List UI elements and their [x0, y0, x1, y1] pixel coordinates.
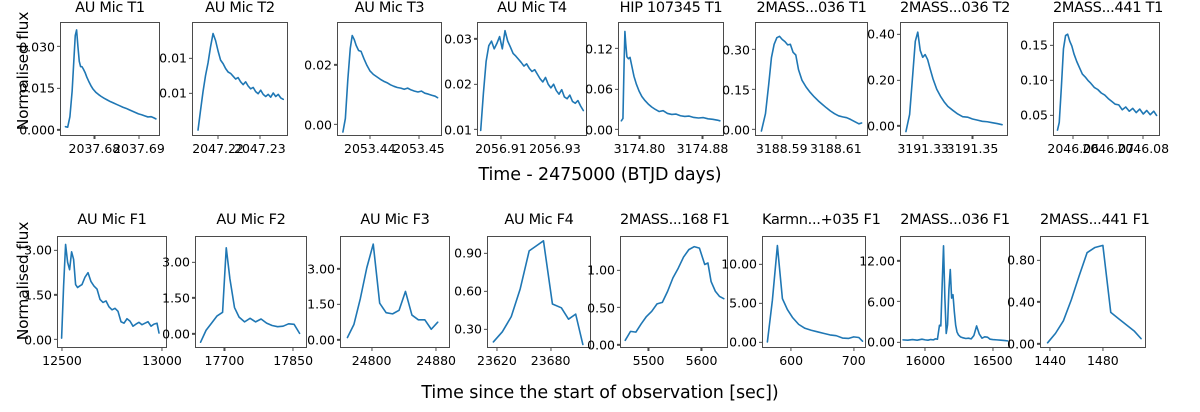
y-tick-label: 0.03 [444, 31, 478, 46]
light-curve-line [761, 36, 861, 131]
light-curve-line [906, 32, 1002, 131]
light-curve-plot [341, 237, 449, 347]
x-tick-label: 23680 [531, 347, 571, 368]
y-tick-label: 12.00 [859, 253, 901, 268]
x-tick-label: 23620 [477, 347, 517, 368]
plot-axes: 0.006.0012.001600016500 [900, 236, 1010, 348]
y-axis-label-top: Normalised flux [14, 1, 32, 141]
subplot-title: Karmn...+035 F1 [762, 212, 866, 228]
x-tick-label: 3191.33 [897, 135, 949, 156]
x-tick-label: 2037.69 [113, 135, 165, 156]
light-curve-line [903, 246, 1008, 341]
y-tick-label: 0.15 [1020, 38, 1054, 53]
subplot-title: 2MASS...036 T2 [900, 0, 1008, 16]
y-tick-label: 0.015 [19, 81, 61, 96]
x-tick-label: 2056.91 [475, 135, 527, 156]
light-curve-plot [488, 237, 590, 347]
light-curve-line [1057, 34, 1156, 130]
subplot-title: AU Mic T2 [192, 0, 288, 16]
y-tick-label: 0.10 [1020, 73, 1054, 88]
light-curve-plot [58, 237, 166, 347]
y-tick-label: 0.02 [444, 77, 478, 92]
light-curve-plot [901, 23, 1007, 135]
light-curve-plot [901, 237, 1009, 347]
y-tick-label: 0.30 [454, 322, 488, 337]
light-curve-line [767, 246, 862, 342]
x-tick-label: 1480 [1087, 347, 1119, 368]
subplot-title: 2MASS...441 F1 [1040, 212, 1146, 228]
plot-axes: 0.005.0010.00600700 [762, 236, 866, 348]
x-tick-label: 3174.88 [677, 135, 729, 156]
plot-axes: 0.000.200.403191.333191.35 [900, 22, 1008, 136]
plot-axes: 0.300.600.902362023680 [487, 236, 591, 348]
y-tick-label: 0.12 [585, 41, 619, 56]
plot-axes: 0.000.022053.442053.45 [337, 22, 442, 136]
x-tick-label: 600 [779, 347, 803, 368]
y-tick-label: 6.00 [867, 294, 901, 309]
x-axis-label-bottom: Time since the start of observation [sec… [0, 383, 1200, 403]
subplot-title: AU Mic T1 [60, 0, 160, 16]
bottom-panel-row: Normalised flux AU Mic F10.001.503.00125… [0, 212, 1200, 412]
light-curve-line [343, 36, 438, 132]
x-tick-label: 1440 [1034, 347, 1066, 368]
subplot-title: 2MASS...441 T1 [1053, 0, 1160, 16]
light-curve-line [198, 34, 283, 131]
light-curve-line [1048, 245, 1141, 342]
plot-axes: 0.000.400.8014401480 [1040, 236, 1146, 348]
y-tick-label: 0.00 [587, 337, 621, 352]
light-curve-figure: Normalised flux AU Mic T10.0000.0150.030… [0, 0, 1200, 412]
subplot-title: 2MASS...036 T1 [755, 0, 868, 16]
y-tick-label: 0.01 [159, 86, 193, 101]
plot-axes: 0.001.503.001770017850 [195, 236, 307, 348]
y-tick-label: 0.00 [162, 326, 196, 341]
y-axis-label-bottom: Normalised flux [14, 211, 32, 351]
x-tick-label: 24800 [352, 347, 392, 368]
x-tick-label: 13000 [142, 347, 182, 368]
y-tick-label: 0.40 [1007, 294, 1041, 309]
y-tick-label: 0.00 [722, 122, 756, 137]
x-tick-label: 3188.61 [810, 135, 862, 156]
x-axis-label-top: Time - 2475000 (BTJD days) [0, 165, 1200, 185]
x-tick-label: 24880 [416, 347, 456, 368]
light-curve-plot [61, 23, 159, 135]
plot-axes: 0.000.150.303188.593188.61 [755, 22, 868, 136]
x-tick-label: 16000 [905, 347, 945, 368]
y-tick-label: 0.30 [722, 42, 756, 57]
light-curve-plot [1041, 237, 1145, 347]
y-tick-label: 3.00 [24, 243, 58, 258]
light-curve-plot [478, 23, 586, 135]
y-tick-label: 0.01 [159, 51, 193, 66]
x-tick-label: 3191.35 [947, 135, 999, 156]
light-curve-plot [196, 237, 306, 347]
y-tick-label: 0.50 [587, 300, 621, 315]
light-curve-plot [621, 237, 727, 347]
light-curve-plot [619, 23, 723, 135]
plot-axes: 0.050.100.152046.062046.072046.08 [1053, 22, 1160, 136]
y-tick-label: 0.40 [867, 27, 901, 42]
y-tick-label: 0.06 [585, 82, 619, 97]
y-tick-label: 0.00 [307, 332, 341, 347]
y-tick-label: 0.02 [304, 57, 338, 72]
y-tick-label: 0.00 [24, 332, 58, 347]
y-tick-label: 0.00 [867, 335, 901, 350]
y-tick-label: 0.05 [1020, 108, 1054, 123]
light-curve-line [621, 31, 719, 120]
light-curve-line [347, 244, 437, 337]
y-tick-label: 3.00 [307, 261, 341, 276]
y-tick-label: 0.000 [19, 122, 61, 137]
y-tick-label: 0.00 [867, 118, 901, 133]
light-curve-line [493, 241, 582, 345]
x-tick-label: 3174.80 [614, 135, 666, 156]
light-curve-line [65, 30, 155, 127]
light-curve-plot [756, 23, 867, 135]
y-tick-label: 1.50 [307, 297, 341, 312]
y-tick-label: 1.00 [587, 263, 621, 278]
y-tick-label: 10.00 [721, 257, 763, 272]
y-tick-label: 0.90 [454, 246, 488, 261]
y-tick-label: 0.030 [19, 39, 61, 54]
light-curve-line [62, 244, 159, 338]
subplot-title: AU Mic F2 [195, 212, 307, 228]
light-curve-line [201, 248, 300, 342]
plot-axes: 0.001.503.001250013000 [57, 236, 167, 348]
subplot-title: AU Mic F1 [57, 212, 167, 228]
subplot-title: AU Mic F4 [487, 212, 591, 228]
y-tick-label: 0.60 [454, 284, 488, 299]
subplot-title: AU Mic F3 [340, 212, 450, 228]
subplot-title: 2MASS...036 F1 [900, 212, 1010, 228]
plot-axes: 0.010.012047.222047.23 [192, 22, 288, 136]
y-tick-label: 1.50 [24, 287, 58, 302]
x-tick-label: 12500 [42, 347, 82, 368]
light-curve-line [481, 31, 584, 131]
light-curve-plot [193, 23, 287, 135]
plot-axes: 0.000.060.123174.803174.88 [618, 22, 724, 136]
x-tick-label: 2053.45 [393, 135, 445, 156]
x-tick-label: 5600 [686, 347, 718, 368]
subplot-title: AU Mic T4 [477, 0, 587, 16]
x-tick-label: 17850 [273, 347, 313, 368]
y-tick-label: 0.00 [729, 335, 763, 350]
x-tick-label: 3188.59 [756, 135, 808, 156]
light-curve-plot [1054, 23, 1159, 135]
subplot-title: 2MASS...168 F1 [620, 212, 728, 228]
plot-axes: 0.0000.0150.0302037.682037.69 [60, 22, 160, 136]
light-curve-plot [338, 23, 441, 135]
y-tick-label: 0.01 [444, 122, 478, 137]
subplot-title: HIP 107345 T1 [618, 0, 724, 16]
x-tick-label: 2047.23 [234, 135, 286, 156]
light-curve-line [625, 247, 724, 341]
y-tick-label: 3.00 [162, 255, 196, 270]
y-tick-label: 0.00 [304, 117, 338, 132]
x-tick-label: 2053.44 [344, 135, 396, 156]
x-tick-label: 2046.08 [1117, 135, 1169, 156]
y-tick-label: 5.00 [729, 296, 763, 311]
subplot-title: AU Mic T3 [337, 0, 442, 16]
y-tick-label: 1.50 [162, 290, 196, 305]
y-tick-label: 0.20 [867, 73, 901, 88]
y-tick-label: 0.80 [1007, 253, 1041, 268]
y-tick-label: 0.15 [722, 82, 756, 97]
x-tick-label: 17700 [205, 347, 245, 368]
light-curve-plot [763, 237, 865, 347]
x-tick-label: 2056.93 [529, 135, 581, 156]
x-tick-label: 700 [842, 347, 866, 368]
x-tick-label: 5500 [633, 347, 665, 368]
plot-axes: 0.000.501.0055005600 [620, 236, 728, 348]
plot-axes: 0.010.020.032056.912056.93 [477, 22, 587, 136]
plot-axes: 0.001.503.002480024880 [340, 236, 450, 348]
